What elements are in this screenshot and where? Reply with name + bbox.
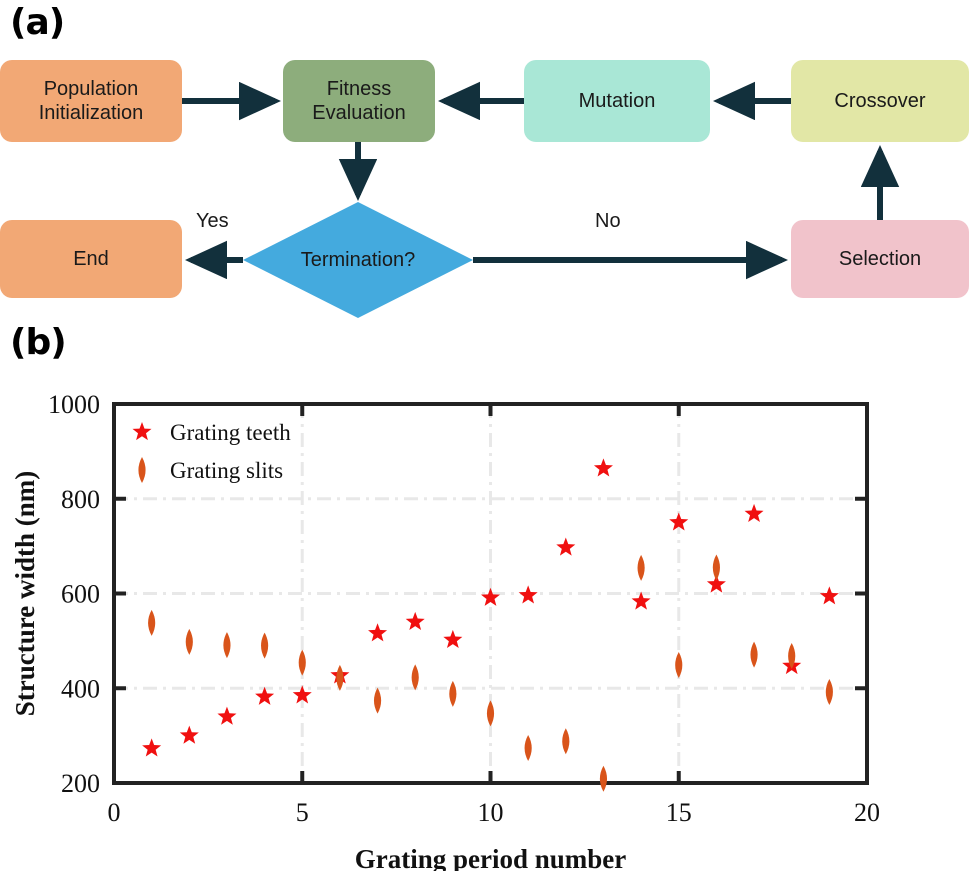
data-point-grating-slits [826, 679, 833, 705]
x-tick-label: 20 [854, 798, 880, 827]
x-tick-label: 10 [478, 798, 504, 827]
y-tick-label: 800 [61, 485, 100, 514]
flow-node-population-line1: Population [39, 77, 144, 101]
data-point-grating-teeth [217, 707, 236, 725]
tick-labels: 200400600800100005101520 [48, 390, 880, 827]
x-axis-title: Grating period number [355, 844, 627, 871]
x-tick-label: 15 [666, 798, 692, 827]
data-point-grating-teeth [443, 630, 462, 648]
flow-node-selection[interactable]: Selection [791, 220, 969, 298]
data-point-grating-slits [600, 766, 607, 792]
legend-label: Grating teeth [170, 420, 291, 445]
y-axis-title: Structure width (nm) [10, 471, 40, 717]
legend-marker-grating-teeth [132, 422, 151, 440]
flow-node-mutation[interactable]: Mutation [524, 60, 710, 142]
flow-node-crossover-label: Crossover [834, 89, 925, 113]
data-point-grating-teeth [594, 458, 613, 476]
data-point-grating-slits [487, 700, 494, 726]
data-point-grating-teeth [368, 623, 387, 641]
data-point-grating-slits [713, 554, 720, 580]
legend-label: Grating slits [170, 458, 283, 483]
flow-node-end-label: End [73, 247, 109, 271]
data-point-grating-slits [374, 688, 381, 714]
data-point-grating-slits [299, 650, 306, 676]
data-points [142, 458, 839, 791]
data-point-grating-slits [638, 555, 645, 581]
edge-label-no: No [595, 210, 621, 233]
data-point-grating-slits [449, 681, 456, 707]
data-point-grating-teeth [745, 504, 764, 522]
x-tick-label: 0 [108, 798, 121, 827]
data-point-grating-slits [750, 642, 757, 668]
data-point-grating-teeth [406, 612, 425, 630]
y-tick-label: 1000 [48, 390, 100, 419]
legend-marker-grating-slits [138, 457, 145, 483]
x-tick-label: 5 [296, 798, 309, 827]
data-point-grating-slits [562, 728, 569, 754]
flow-node-selection-label: Selection [839, 247, 921, 271]
data-point-grating-teeth [519, 585, 538, 603]
y-tick-label: 400 [61, 674, 100, 703]
y-tick-label: 200 [61, 769, 100, 798]
scatter-plot-svg: 200400600800100005101520 Grating teethGr… [0, 320, 969, 871]
flow-node-end[interactable]: End [0, 220, 182, 298]
flow-node-population-line2: Initialization [39, 101, 144, 125]
data-point-grating-teeth [481, 588, 500, 606]
data-point-grating-teeth [820, 586, 839, 604]
flow-node-mutation-label: Mutation [579, 89, 656, 113]
scatter-chart: 200400600800100005101520 Grating teethGr… [0, 320, 969, 871]
data-point-grating-teeth [142, 738, 161, 756]
flow-node-termination-label: Termination? [301, 249, 416, 272]
flow-node-fitness[interactable]: Fitness Evaluation [283, 60, 435, 142]
edge-label-yes: Yes [196, 210, 229, 233]
axis-titles: Grating period numberStructure width (nm… [10, 471, 626, 871]
flow-node-crossover[interactable]: Crossover [791, 60, 969, 142]
flow-node-termination[interactable]: Termination? [243, 202, 473, 318]
data-point-grating-slits [148, 610, 155, 636]
data-point-grating-slits [186, 629, 193, 655]
data-point-grating-slits [675, 652, 682, 678]
flow-node-fitness-line2: Evaluation [312, 101, 405, 125]
legend: Grating teethGrating slits [132, 420, 291, 483]
data-point-grating-slits [223, 632, 230, 658]
data-point-grating-teeth [180, 726, 199, 744]
data-point-grating-slits [525, 735, 532, 761]
data-point-grating-slits [412, 664, 419, 690]
y-tick-label: 600 [61, 580, 100, 609]
data-point-grating-teeth [556, 538, 575, 556]
flow-node-population[interactable]: Population Initialization [0, 60, 182, 142]
flowchart-diagram: Population Initialization Fitness Evalua… [0, 0, 969, 320]
flow-node-fitness-line1: Fitness [312, 77, 405, 101]
data-point-grating-slits [261, 633, 268, 659]
